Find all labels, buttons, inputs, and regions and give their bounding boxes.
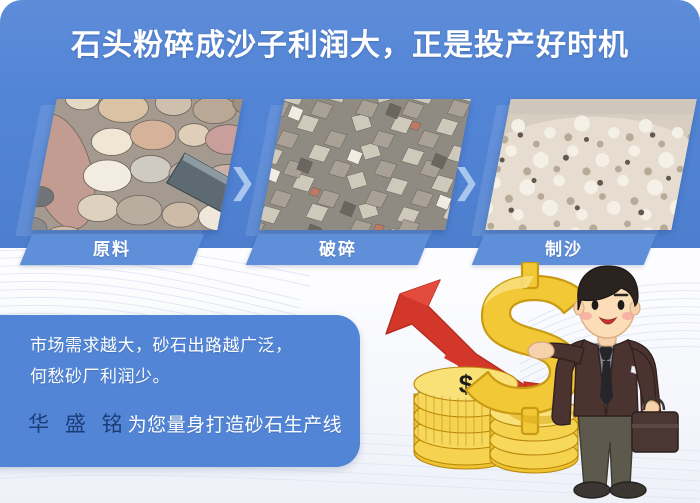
pebbles-photo	[31, 99, 242, 230]
brand-name: 华 盛 铭	[28, 413, 128, 436]
chevron-right-icon-1: ❯	[228, 168, 254, 198]
process-image-raw-material	[31, 99, 242, 230]
step-label-1: 原料	[20, 234, 205, 265]
brand-tagline-line: 华 盛 铭为您量身打造砂石生产线	[28, 410, 368, 441]
page-title: 石头粉碎成沙子利润大，正是投产好时机	[0, 26, 700, 66]
step-label-3: 制沙	[472, 234, 657, 265]
promo-banner: 石头粉碎成沙子利润大，正是投产好时机	[0, 0, 700, 503]
step-label-3-text: 制沙	[478, 234, 650, 265]
process-image-sand-making	[485, 99, 696, 230]
step-label-1-text: 原料	[26, 234, 198, 265]
step-label-2: 破碎	[246, 234, 431, 265]
sand-photo	[485, 99, 696, 230]
process-image-crushing	[259, 99, 470, 230]
step-label-2-text: 破碎	[252, 234, 424, 265]
message-text: 市场需求越大，砂石出路越广泛， 何愁砂厂利润少。	[30, 330, 360, 392]
chevron-right-icon-2: ❯	[452, 168, 478, 198]
gravel-photo	[259, 99, 470, 230]
message-line-2: 何愁砂厂利润少。	[30, 361, 360, 392]
message-line-1: 市场需求越大，砂石出路越广泛，	[30, 330, 360, 361]
brand-tagline: 为您量身打造砂石生产线	[128, 415, 343, 436]
growth-illustration: $ $	[356, 262, 700, 503]
